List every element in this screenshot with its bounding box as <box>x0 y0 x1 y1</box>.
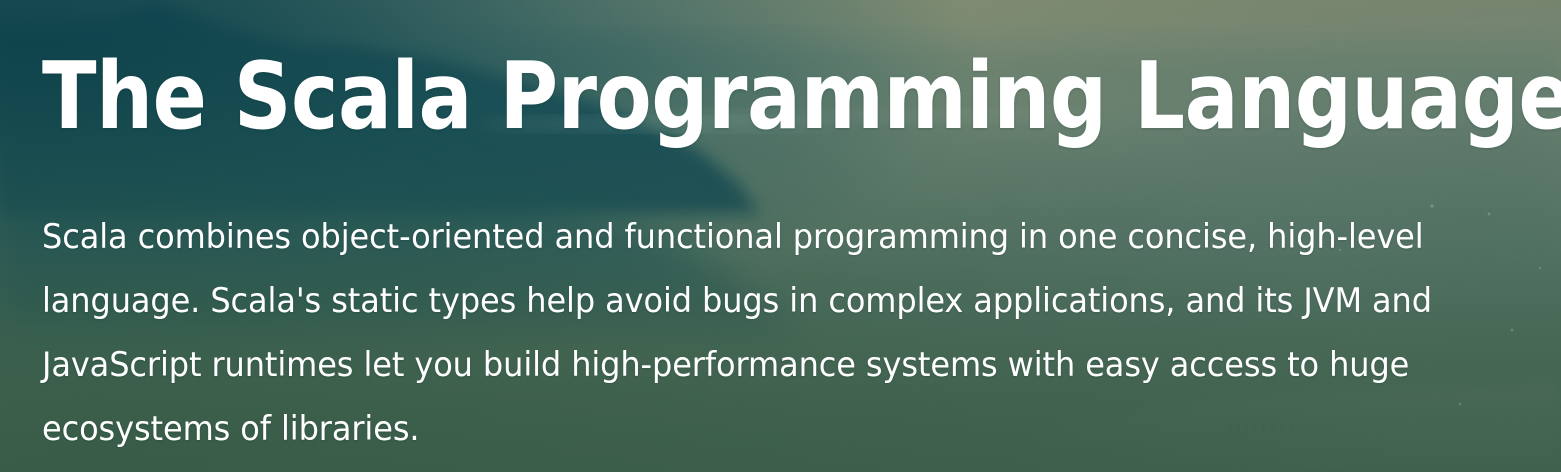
hero-content: The Scala Programming Language Scala com… <box>0 0 1561 472</box>
hero-description: Scala combines object-oriented and funct… <box>42 205 1465 461</box>
page-title: The Scala Programming Language <box>42 48 1561 146</box>
hero-banner: The Scala Programming Language Scala com… <box>0 0 1561 472</box>
